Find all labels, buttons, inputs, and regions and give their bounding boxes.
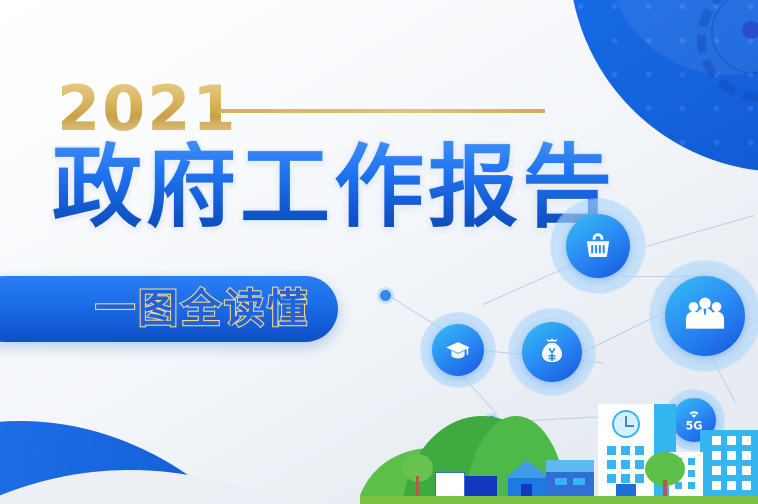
tech-gear-core-icon [742, 21, 758, 39]
window [712, 481, 721, 490]
window [742, 466, 751, 475]
read-all-in-one-chart-button[interactable]: 一图全读懂 [0, 276, 338, 342]
window [712, 436, 721, 445]
warehouse-roof [546, 460, 594, 472]
window [621, 446, 630, 455]
window [688, 482, 695, 489]
poster-canvas: 2021 政府工作报告 一图全读懂 [0, 0, 758, 504]
grass-strip [360, 496, 758, 504]
money-bag-icon [522, 322, 582, 382]
window [727, 451, 736, 460]
tree-trunk [416, 476, 419, 498]
window [727, 466, 736, 475]
window [607, 474, 616, 483]
house-icon [435, 472, 465, 498]
window [688, 470, 695, 477]
window [635, 474, 644, 483]
window [688, 458, 695, 465]
year-label: 2021 [57, 78, 238, 140]
network-dot [380, 290, 391, 301]
window [742, 481, 751, 490]
window [607, 460, 616, 469]
window [607, 446, 616, 455]
window [712, 451, 721, 460]
read-all-in-one-chart-label: 一图全读懂 [95, 289, 310, 329]
window [555, 478, 567, 485]
shopping-basket-icon [566, 214, 630, 278]
window [635, 460, 644, 469]
clock-hand [626, 425, 634, 427]
window [742, 451, 751, 460]
window [621, 460, 630, 469]
window [573, 478, 585, 485]
graduation-cap-icon [432, 324, 484, 376]
window [621, 474, 630, 483]
house-icon [465, 476, 497, 498]
network-link [646, 215, 754, 247]
page-title: 政府工作报告 [52, 141, 616, 236]
house-roof [505, 460, 549, 478]
window [635, 446, 644, 455]
window [742, 436, 751, 445]
window [727, 436, 736, 445]
window [712, 466, 721, 475]
window [727, 481, 736, 490]
gold-divider-line [217, 109, 545, 113]
group-people-icon [665, 276, 745, 356]
